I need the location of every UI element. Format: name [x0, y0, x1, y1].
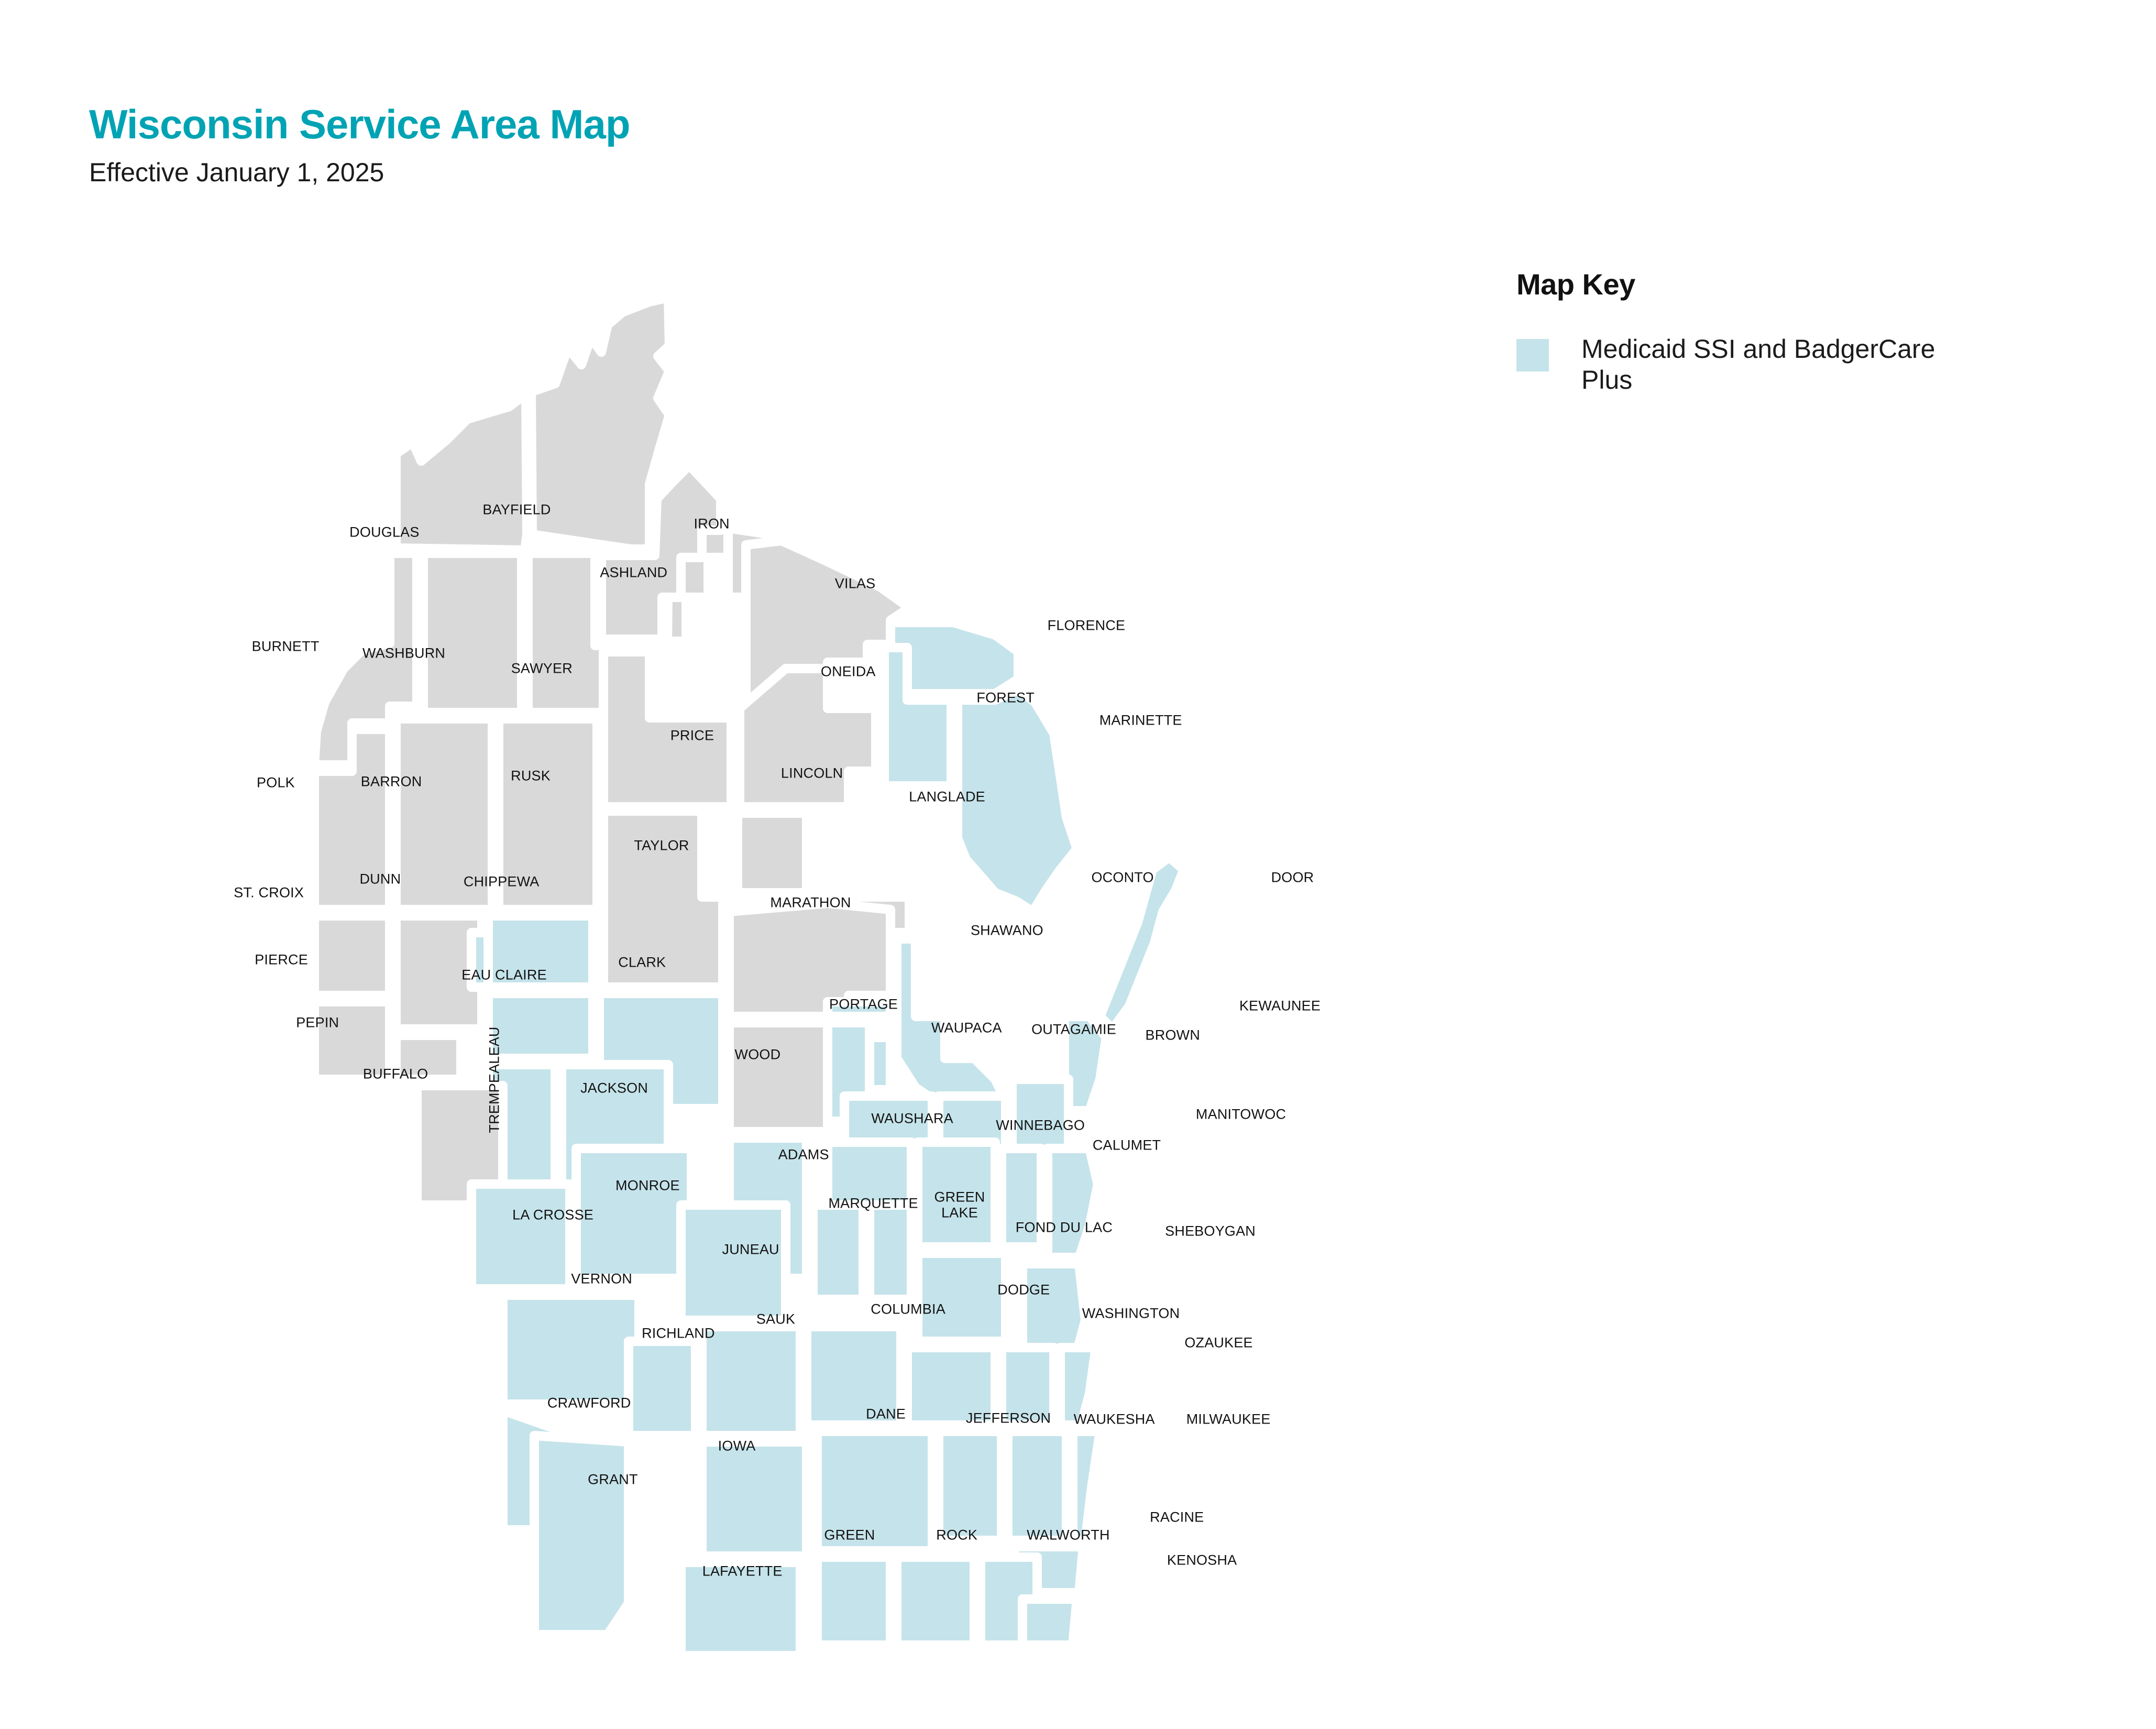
county-shape-grant [534, 1436, 629, 1635]
county-shape-chippewa [471, 916, 593, 987]
county-shape-ozaukee [1060, 1348, 1096, 1425]
county-shape-door [1100, 857, 1184, 1029]
county-shape-oneida [740, 669, 876, 807]
county-shape-vernon [503, 1295, 639, 1404]
county-shape-sauk [702, 1327, 800, 1436]
county-shape-bayfield [531, 298, 669, 549]
county-shape-sheboygan [1022, 1264, 1085, 1352]
county-shape-juneau [681, 1205, 786, 1320]
map-key: Map Key Medicaid SSI and BadgerCare Plus [1516, 267, 2040, 396]
map-key-legend-item: Medicaid SSI and BadgerCare Plus [1516, 334, 2040, 396]
county-shape-washington [1002, 1348, 1054, 1425]
county-shape-pierce [314, 1002, 390, 1079]
county-shape-douglas [396, 394, 527, 550]
county-shape-waukesha [1008, 1431, 1066, 1540]
page-subtitle: Effective January 1, 2025 [89, 157, 384, 188]
county-shape-green-lake [870, 1205, 911, 1299]
county-shape-barron [396, 719, 492, 910]
county-shape-lafayette [681, 1562, 800, 1656]
county-shape-dane [817, 1431, 932, 1551]
county-shape-taylor [603, 811, 723, 987]
county-shape-price [603, 652, 731, 807]
county-shape-rock [897, 1557, 974, 1645]
county-shape-washburn [423, 553, 522, 713]
map-key-title: Map Key [1516, 267, 2040, 301]
legend-color-swatch [1516, 339, 1549, 371]
page-title: Wisconsin Service Area Map [89, 101, 630, 148]
county-shape-fond-du-lac [918, 1253, 1006, 1341]
county-shape-green [817, 1557, 890, 1645]
county-shape-eau-claire [488, 993, 593, 1058]
county-shape-lincoln [738, 813, 807, 893]
county-shape-wood [729, 1023, 828, 1132]
county-shape-milwaukee [1073, 1431, 1100, 1540]
legend-label: Medicaid SSI and BadgerCare Plus [1581, 334, 1948, 396]
county-shape-calumet [1002, 1148, 1041, 1247]
county-shape-jefferson [939, 1431, 1002, 1540]
county-shape-st-croix [314, 916, 390, 995]
county-shape-pepin [396, 1035, 461, 1079]
map-svg [157, 283, 1425, 1666]
county-shape-kenosha [1022, 1599, 1077, 1645]
county-shape-marquette [813, 1205, 863, 1299]
county-shape-la-crosse [471, 1184, 570, 1289]
county-shape-marinette [958, 690, 1077, 912]
county-shape-richland [629, 1341, 696, 1436]
county-shape-columbia [807, 1327, 901, 1425]
county-shape-winnebago [918, 1142, 995, 1247]
wisconsin-county-map: DOUGLASBAYFIELDIRONASHLANDVILASBURNETTWA… [157, 283, 1425, 1666]
county-shape-dodge [907, 1348, 995, 1425]
county-shape-iowa [702, 1442, 807, 1556]
county-shape-rusk [499, 719, 597, 910]
county-shape-monroe [576, 1148, 691, 1278]
county-shape-manitowoc [1048, 1148, 1098, 1257]
